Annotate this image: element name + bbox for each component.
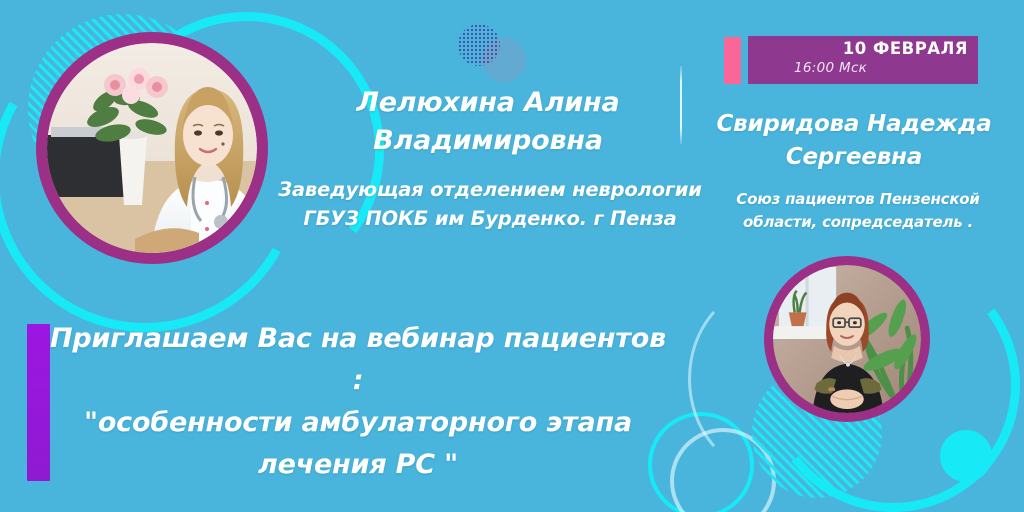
solid-dot-bottom-right-icon: [940, 430, 992, 482]
speaker1-photo: [47, 43, 257, 253]
ring-outline-light-icon: [670, 428, 776, 512]
speaker2-title: Союз пациентов Пензенской области, сопре…: [722, 188, 994, 233]
pink-marker-bar-icon: [724, 37, 741, 84]
speaker1-name: Лелюхина Алина Владимировна: [268, 84, 708, 161]
speaker2-photo-illustration: [773, 265, 921, 413]
time-label: 16:00 Мск: [794, 60, 867, 76]
halftone-circle-blue-icon: [458, 24, 500, 66]
speaker1-photo-illustration: [47, 43, 257, 253]
speaker1-title: Заведующая отделением неврологии ГБУЗ ПО…: [262, 176, 718, 234]
speaker2-photo: [773, 265, 921, 413]
speaker2-avatar: [764, 256, 930, 422]
halftone-circle-pink-icon: [482, 38, 526, 82]
main-title: Приглашаем Вас на вебинар пациентов : "о…: [44, 318, 672, 485]
speaker1-avatar: [36, 32, 268, 264]
date-badge: 10 ФЕВРАЛЯ 16:00 Мск: [748, 36, 978, 84]
webinar-poster: 10 ФЕВРАЛЯ 16:00 Мск Лелюхина Алина Влад…: [0, 0, 1024, 512]
date-label: 10 ФЕВРАЛЯ: [843, 39, 968, 58]
speaker2-name: Свиридова Надежда Сергеевна: [704, 108, 1004, 173]
